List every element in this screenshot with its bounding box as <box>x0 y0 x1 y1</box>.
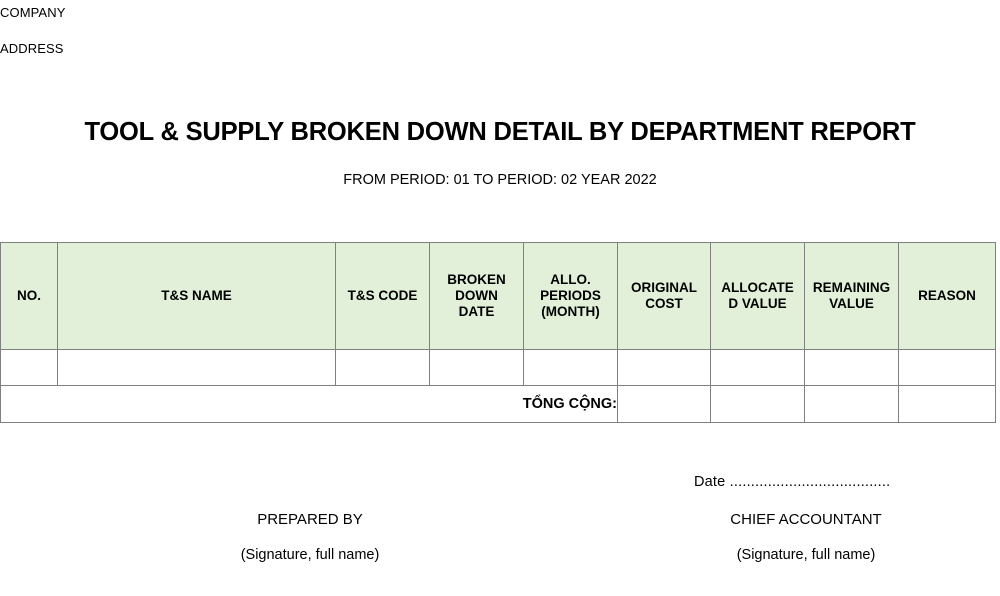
cell-reason[interactable] <box>899 350 996 386</box>
chief-accountant-role: CHIEF ACCOUNTANT <box>636 509 976 531</box>
total-remaining-value[interactable] <box>805 386 899 423</box>
cell-allocated-value[interactable] <box>711 350 805 386</box>
total-allocated-value[interactable] <box>711 386 805 423</box>
report-page: COMPANY ADDRESS TOOL & SUPPLY BROKEN DOW… <box>0 0 1000 596</box>
table-header-row: NO. T&S NAME T&S CODE BROKEN DOWN DATE A… <box>1 243 996 350</box>
column-header-remaining-value: REMAINING VALUE <box>805 243 899 350</box>
table-row <box>1 350 996 386</box>
column-header-broken-down-date-line-1: BROKEN <box>430 272 523 288</box>
total-reason[interactable] <box>899 386 996 423</box>
date-field[interactable]: Date ...................................… <box>694 474 890 490</box>
column-header-ts-code: T&S CODE <box>336 243 430 350</box>
column-header-original-cost-line-2: COST <box>618 296 710 312</box>
company-label: COMPANY <box>0 5 65 20</box>
total-row-label: TỔNG CỘNG: <box>1 386 618 423</box>
chief-accountant-signature-block: CHIEF ACCOUNTANT (Signature, full name) <box>636 509 976 566</box>
chief-accountant-note: (Signature, full name) <box>636 544 976 566</box>
broken-down-detail-table: NO. T&S NAME T&S CODE BROKEN DOWN DATE A… <box>0 242 996 423</box>
column-header-original-cost: ORIGINAL COST <box>618 243 711 350</box>
column-header-allocated-value: ALLOCATE D VALUE <box>711 243 805 350</box>
cell-original-cost[interactable] <box>618 350 711 386</box>
column-header-remaining-value-line-2: VALUE <box>805 296 898 312</box>
table-total-row: TỔNG CỘNG: <box>1 386 996 423</box>
column-header-original-cost-line-1: ORIGINAL <box>618 280 710 296</box>
column-header-allo-periods: ALLO. PERIODS (MONTH) <box>524 243 618 350</box>
column-header-allocated-value-line-2: D VALUE <box>711 296 804 312</box>
column-header-ts-name-line-1: T&S NAME <box>58 288 335 304</box>
prepared-by-note: (Signature, full name) <box>140 544 480 566</box>
column-header-no: NO. <box>1 243 58 350</box>
column-header-allo-periods-line-2: PERIODS <box>524 288 617 304</box>
report-period-subtitle: FROM PERIOD: 01 TO PERIOD: 02 YEAR 2022 <box>0 172 1000 188</box>
column-header-ts-code-line-1: T&S CODE <box>336 288 429 304</box>
cell-ts-name[interactable] <box>58 350 336 386</box>
cell-allo-periods[interactable] <box>524 350 618 386</box>
column-header-no-line-1: NO. <box>1 288 57 304</box>
column-header-remaining-value-line-1: REMAINING <box>805 280 898 296</box>
column-header-broken-down-date-line-2: DOWN <box>430 288 523 304</box>
total-original-cost[interactable] <box>618 386 711 423</box>
column-header-reason-line-1: REASON <box>899 288 995 304</box>
cell-broken-down-date[interactable] <box>430 350 524 386</box>
column-header-allo-periods-line-1: ALLO. <box>524 272 617 288</box>
column-header-reason: REASON <box>899 243 996 350</box>
cell-ts-code[interactable] <box>336 350 430 386</box>
address-label: ADDRESS <box>0 41 64 56</box>
column-header-broken-down-date: BROKEN DOWN DATE <box>430 243 524 350</box>
prepared-by-signature-block: PREPARED BY (Signature, full name) <box>140 509 480 566</box>
column-header-allocated-value-line-1: ALLOCATE <box>711 280 804 296</box>
column-header-ts-name: T&S NAME <box>58 243 336 350</box>
cell-remaining-value[interactable] <box>805 350 899 386</box>
column-header-allo-periods-line-3: (MONTH) <box>524 304 617 320</box>
page-title: TOOL & SUPPLY BROKEN DOWN DETAIL BY DEPA… <box>0 118 1000 147</box>
cell-no[interactable] <box>1 350 58 386</box>
prepared-by-role: PREPARED BY <box>140 509 480 531</box>
column-header-broken-down-date-line-3: DATE <box>430 304 523 320</box>
